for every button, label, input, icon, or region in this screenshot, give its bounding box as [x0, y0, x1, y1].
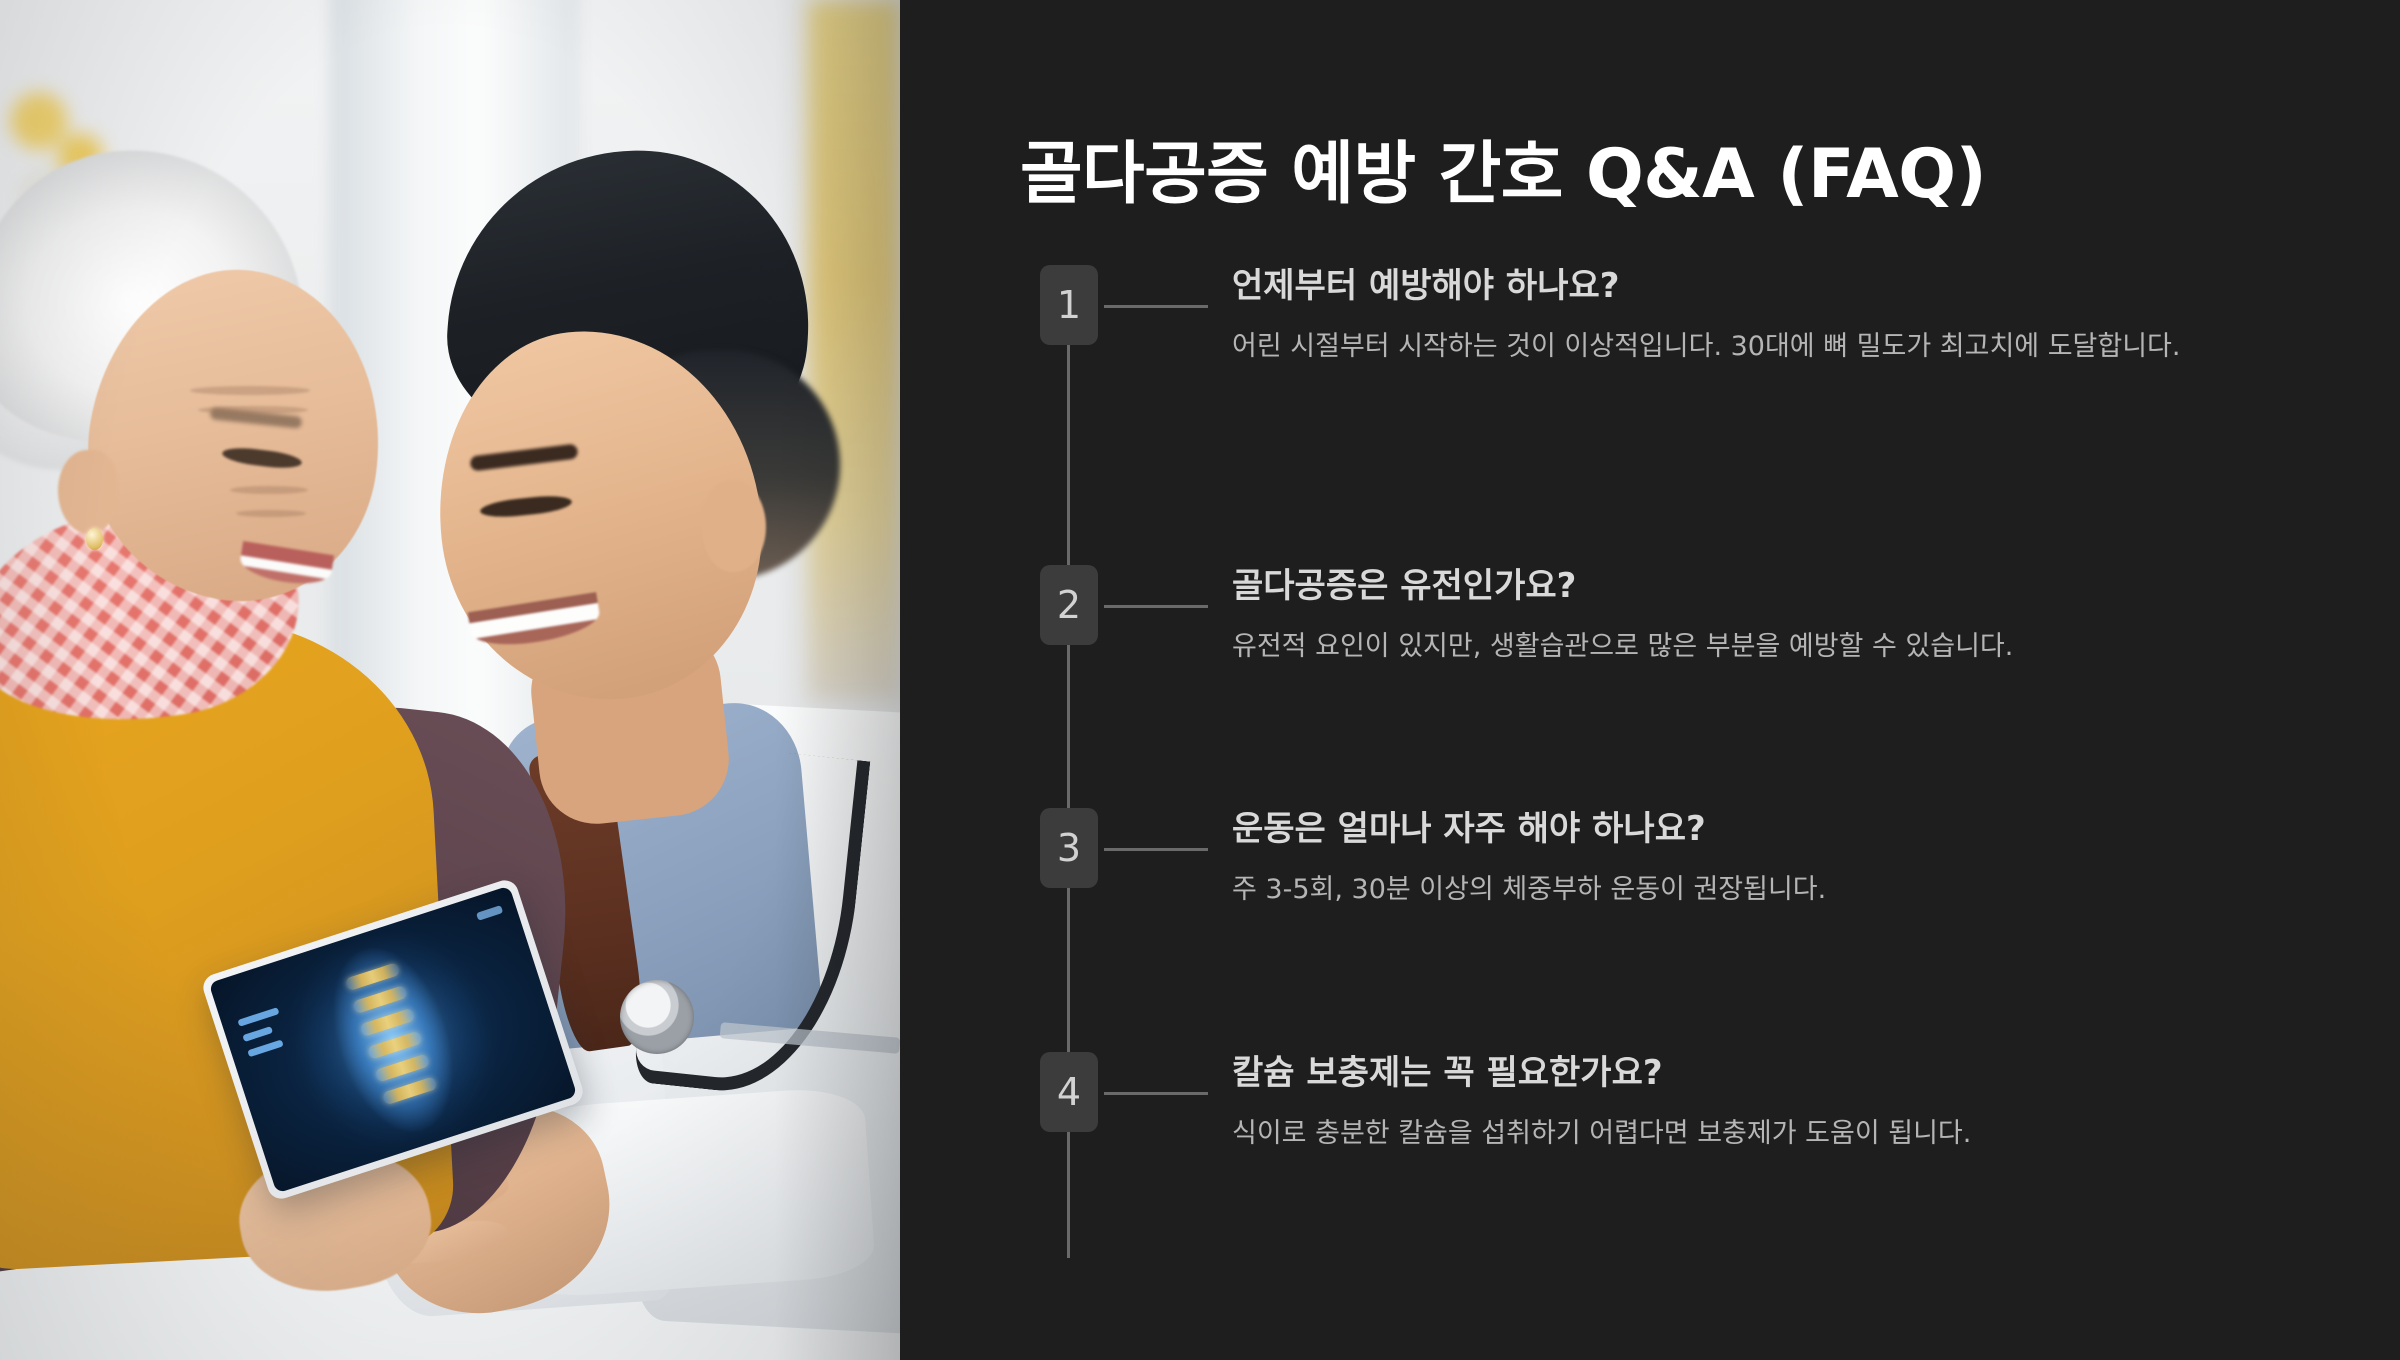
xray-annotation: [247, 1039, 283, 1057]
faq-question: 운동은 얼마나 자주 해야 하나요?: [1232, 808, 2317, 851]
faq-text-block: 골다공증은 유전인가요? 유전적 요인이 있지만, 생활습관으로 많은 부분을 …: [1232, 565, 2317, 668]
stethoscope-chestpiece: [620, 980, 694, 1054]
xray-annotation: [237, 1007, 279, 1027]
faq-connector-line: [1104, 1092, 1208, 1095]
patient-ear: [58, 450, 118, 534]
faq-question: 칼슘 보충제는 꼭 필요한가요?: [1232, 1052, 2317, 1095]
patient-wrinkle: [236, 510, 306, 517]
page-title: 골다공증 예방 간호 Q&A (FAQ): [1020, 118, 1986, 217]
faq-answer: 어린 시절부터 시작하는 것이 이상적입니다. 30대에 뼈 밀도가 최고치에 …: [1232, 326, 2317, 369]
patient-wrinkle: [190, 386, 310, 395]
faq-text-block: 언제부터 예방해야 하나요? 어린 시절부터 시작하는 것이 이상적입니다. 3…: [1232, 265, 2317, 368]
faq-answer: 주 3-5회, 30분 이상의 체중부하 운동이 권장됩니다.: [1232, 869, 2317, 912]
faq-connector-line: [1104, 605, 1208, 608]
faq-answer: 유전적 요인이 있지만, 생활습관으로 많은 부분을 예방할 수 있습니다.: [1232, 626, 2317, 669]
faq-slide: 골다공증 예방 간호 Q&A (FAQ) 1 언제부터 예방해야 하나요? 어린…: [0, 0, 2400, 1360]
faq-connector-line: [1104, 848, 1208, 851]
patient-earring: [86, 528, 103, 550]
faq-number-badge: 2: [1040, 565, 1098, 645]
patient-wrinkle: [230, 486, 308, 494]
xray-annotation: [242, 1026, 273, 1042]
faq-number-badge: 4: [1040, 1052, 1098, 1132]
photo-stage: [0, 0, 900, 1360]
faq-timeline: 1 언제부터 예방해야 하나요? 어린 시절부터 시작하는 것이 이상적입니다.…: [1020, 265, 2320, 1260]
faq-answer: 식이로 충분한 칼슘을 섭취하기 어렵다면 보충제가 도움이 됩니다.: [1232, 1113, 2317, 1156]
doctor-ear: [702, 480, 766, 572]
faq-connector-line: [1104, 305, 1208, 308]
xray-annotation: [476, 905, 503, 921]
faq-question: 언제부터 예방해야 하나요?: [1232, 265, 2317, 308]
content-panel: 골다공증 예방 간호 Q&A (FAQ) 1 언제부터 예방해야 하나요? 어린…: [900, 0, 2400, 1360]
faq-question: 골다공증은 유전인가요?: [1232, 565, 2317, 608]
faq-text-block: 운동은 얼마나 자주 해야 하나요? 주 3-5회, 30분 이상의 체중부하 …: [1232, 808, 2317, 911]
patient-wrinkle: [198, 406, 308, 414]
faq-number-badge: 1: [1040, 265, 1098, 345]
hero-photo: [0, 0, 900, 1360]
faq-number-badge: 3: [1040, 808, 1098, 888]
faq-text-block: 칼슘 보충제는 꼭 필요한가요? 식이로 충분한 칼슘을 섭취하기 어렵다면 보…: [1232, 1052, 2317, 1155]
